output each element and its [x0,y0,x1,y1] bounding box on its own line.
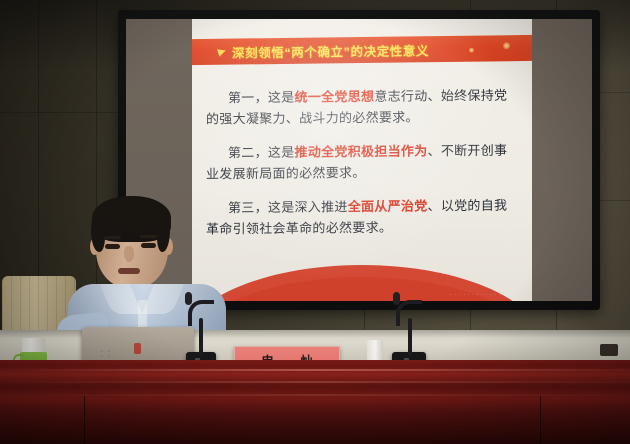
slide-paragraph: 第二，这是推动全党积极担当作为、不断开创事业发展新局面的必然要求。 [206,140,518,185]
eyebrow [140,235,157,238]
hair-side [91,214,105,252]
microphone-head [185,292,192,305]
water-glass [367,340,383,362]
slide-title-banner: 深刻领悟“两个确立”的决定性意义 [192,35,532,65]
slide-paragraph: 第一，这是统一全党思想意志行动、始终保持党的强大凝聚力、战斗力的必然要求。 [206,85,518,130]
paragraph-highlight: 推动全党积极担当作为 [295,143,428,159]
sparkle-icon [503,42,510,49]
paragraph-lead: 第三，这是深入推进 [228,199,348,215]
photo-scene: 深刻领悟“两个确立”的决定性意义 第一，这是统一全党思想意志行动、始终保持党的强… [0,0,630,444]
slide-paragraph: 第三，这是深入推进全面从严治党、以党的自我革命引领社会革命的必然要求。 [206,195,518,240]
paragraph-lead: 第一，这是 [228,90,295,106]
slide-footer-dots: · · · · · · · · · · · · · · · · · · [450,292,528,297]
arrow-marker-icon [217,47,227,57]
laptop-texture [100,349,114,358]
laptop-logo-icon [134,343,141,354]
slide-title-text: 深刻领悟“两个确立”的决定性意义 [232,40,429,61]
paragraph-highlight: 全面从严治党 [348,199,428,215]
desk-seam [84,396,85,444]
slide-body: 第一，这是统一全党思想意志行动、始终保持党的强大凝聚力、战斗力的必然要求。 第二… [206,72,518,245]
eyebrow [104,236,121,239]
wall-seam [0,112,118,113]
desk-highlight [0,369,630,371]
desk-object [600,344,618,356]
desk-highlight [0,381,630,383]
microphone-bend [396,300,422,326]
desk-highlight [0,394,630,396]
nose [124,246,134,262]
paragraph-highlight: 统一全党思想 [295,89,375,105]
desk-front-panel [0,360,630,444]
eye [141,243,156,248]
microphone-head [393,292,400,305]
presentation-slide: 深刻领悟“两个确立”的决定性意义 第一，这是统一全党思想意志行动、始终保持党的强… [192,19,532,301]
eye [105,244,120,249]
desk-seam [540,396,541,444]
paragraph-lead: 第二，这是 [228,145,295,161]
microphone-bend [188,300,214,326]
sparkle-icon [469,48,474,53]
mouth [118,268,140,274]
